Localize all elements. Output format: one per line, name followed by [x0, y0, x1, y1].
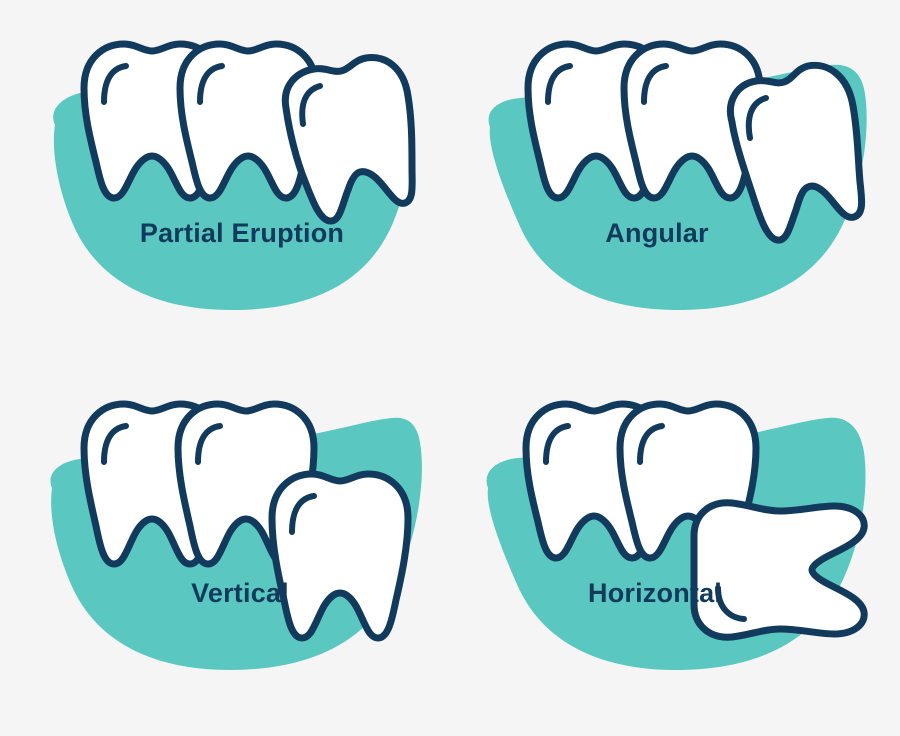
panel-vertical[interactable]: Vertical: [0, 370, 450, 710]
panel-label: Partial Eruption: [140, 218, 344, 248]
panel-partial-eruption[interactable]: Partial Eruption: [0, 10, 450, 350]
panel-label: Vertical: [191, 578, 289, 608]
impaction-types-infographic: Partial Eruption Angular: [0, 0, 900, 736]
panel-label: Angular: [605, 218, 709, 248]
panel-label: Horizontal: [588, 578, 722, 608]
panel-horizontal[interactable]: Horizontal: [450, 370, 900, 710]
panel-angular[interactable]: Angular: [450, 10, 900, 350]
